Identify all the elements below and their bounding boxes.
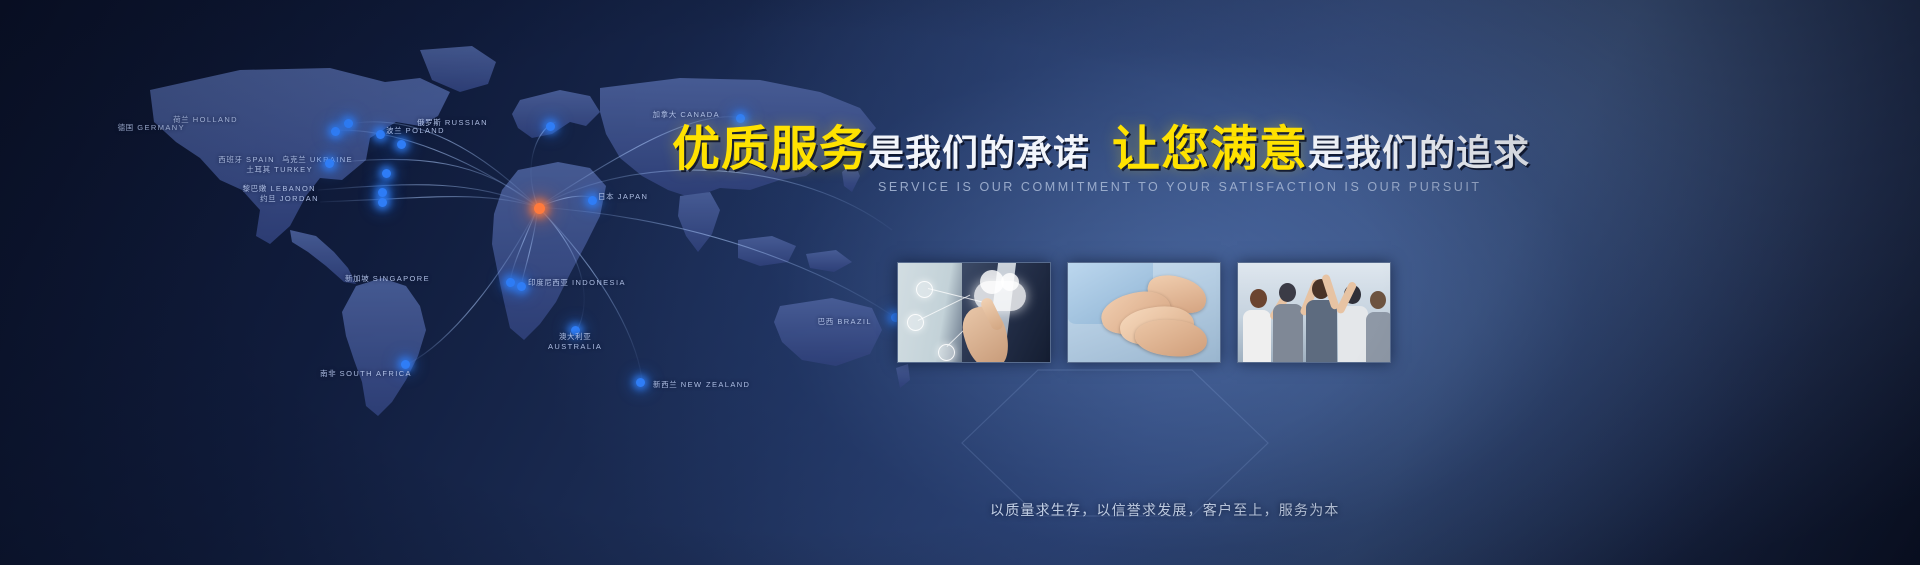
map-label-cn: 黎巴嫩 — [243, 184, 267, 193]
map-label-canada: 加拿大 CANADA — [653, 109, 720, 120]
person-head — [1250, 289, 1267, 308]
map-label-en: NEW ZEALAND — [677, 380, 750, 389]
map-label-en: BRAZIL — [834, 317, 872, 326]
map-label-new-zealand: 新西兰 NEW ZEALAND — [653, 379, 750, 390]
map-label-cn: 印度尼西亚 — [528, 278, 569, 287]
map-marker-dot-russian[interactable] — [546, 122, 555, 131]
map-label-australia: 澳大利亚AUSTRALIA — [548, 332, 602, 352]
page-title: 优质服务是我们的承诺让您满意是我们的追求 — [672, 126, 1530, 174]
map-label-cn: 波兰 — [386, 126, 402, 135]
map-label-cn: 俄罗斯 — [417, 118, 441, 127]
photo-2-scene — [1068, 263, 1220, 362]
photo-strip — [897, 262, 1391, 363]
map-label-japan: 日本 JAPAN — [598, 191, 648, 202]
map-label-jordan: 约旦 JORDAN — [260, 193, 319, 204]
map-marker-dot-ukraine[interactable] — [397, 140, 406, 149]
network-node-icon — [938, 344, 955, 361]
person-head — [1370, 291, 1386, 309]
map-label-en: AUSTRALIA — [548, 342, 602, 351]
subtitle: SERVICE IS OUR COMMITMENT TO YOUR SATISF… — [878, 180, 1482, 194]
world-map-svg — [120, 30, 910, 430]
headline-highlight-1: 优质服务 — [672, 123, 868, 176]
hexagon-svg — [960, 368, 1270, 518]
map-label-germany: 德国 GERMANY — [118, 122, 185, 133]
map-marker-dot-lebanon[interactable] — [378, 188, 387, 197]
map-label-russian: 俄罗斯 RUSSIAN — [417, 117, 488, 128]
map-marker-dot-中国[interactable] — [534, 203, 545, 214]
photo-3-scene — [1238, 263, 1390, 362]
map-marker-dot-canada[interactable] — [736, 114, 745, 123]
map-label-en: HOLLAND — [189, 115, 238, 124]
person-head — [1279, 283, 1296, 302]
headline-rest-2: 是我们的追求 — [1308, 132, 1530, 173]
photo-team-high-five[interactable] — [1237, 262, 1391, 363]
person-body — [1366, 312, 1391, 362]
map-label-en: SOUTH AFRICA — [336, 369, 412, 378]
map-label-en: JAPAN — [614, 192, 648, 201]
hand-shape — [1134, 318, 1208, 359]
map-label-en: GERMANY — [134, 123, 185, 132]
map-label-en: SPAIN — [243, 155, 275, 164]
map-marker-dot-japan[interactable] — [588, 196, 597, 205]
map-marker-dot-indonesia[interactable] — [517, 282, 526, 291]
map-label-turkey: 土耳其 TURKEY — [246, 164, 313, 175]
map-marker-dot-poland[interactable] — [376, 130, 385, 139]
map-label-cn: 约旦 — [260, 194, 276, 203]
map-label-cn: 新西兰 — [653, 380, 677, 389]
map-label-indonesia: 印度尼西亚 INDONESIA — [528, 277, 626, 288]
map-marker-dot-singapore[interactable] — [506, 278, 515, 287]
headline-rest-1: 是我们的承诺 — [868, 132, 1090, 173]
map-label-en: INDONESIA — [569, 278, 626, 287]
map-label-cn: 西班牙 — [218, 155, 242, 164]
map-label-cn: 德国 — [118, 123, 134, 132]
map-label-en: RUSSIAN — [441, 118, 488, 127]
map-label-brazil: 巴西 BRAZIL — [818, 316, 872, 327]
photo-cloud-computing[interactable] — [897, 262, 1051, 363]
person-body — [1243, 310, 1271, 362]
map-label-south-africa: 南非 SOUTH AFRICA — [320, 368, 412, 379]
map-marker-dot-turkey[interactable] — [382, 169, 391, 178]
map-label-en: TURKEY — [271, 165, 313, 174]
tagline: 以质量求生存，以信誉求发展，客户至上，服务为本 — [990, 500, 1340, 520]
map-marker-dot-new-zealand[interactable] — [636, 378, 645, 387]
person-body — [1273, 304, 1303, 362]
map-marker-dot-spain[interactable] — [325, 159, 334, 168]
promo-banner: 荷兰 HOLLAND德国 GERMANY波兰 POLAND乌克兰 UKRAINE… — [0, 0, 1920, 565]
map-label-cn: 南非 — [320, 369, 336, 378]
map-marker-dot-holland[interactable] — [344, 119, 353, 128]
map-label-cn: 日本 — [598, 192, 614, 201]
map-label-en: LEBANON — [267, 184, 316, 193]
world-map: 荷兰 HOLLAND德国 GERMANY波兰 POLAND乌克兰 UKRAINE… — [120, 30, 910, 430]
map-label-cn: 澳大利亚 — [559, 332, 591, 341]
map-label-en: SINGAPORE — [369, 274, 430, 283]
map-marker-dot-jordan[interactable] — [378, 198, 387, 207]
map-label-cn: 土耳其 — [246, 165, 270, 174]
map-label-cn: 新加坡 — [345, 274, 369, 283]
photo-teamwork-hands[interactable] — [1067, 262, 1221, 363]
hexagon-outline-decoration — [960, 368, 1270, 518]
map-landmasses — [150, 46, 910, 416]
headline-highlight-2: 让您满意 — [1112, 123, 1308, 176]
map-label-cn: 乌克兰 — [282, 155, 306, 164]
map-label-cn: 巴西 — [818, 317, 834, 326]
map-label-cn: 加拿大 — [653, 110, 677, 119]
map-label-en: JORDAN — [276, 194, 319, 203]
photo-1-scene — [898, 263, 1050, 362]
person-body — [1338, 306, 1368, 362]
map-marker-dot-germany[interactable] — [331, 127, 340, 136]
map-label-en: CANADA — [677, 110, 720, 119]
map-label-singapore: 新加坡 SINGAPORE — [345, 273, 430, 284]
